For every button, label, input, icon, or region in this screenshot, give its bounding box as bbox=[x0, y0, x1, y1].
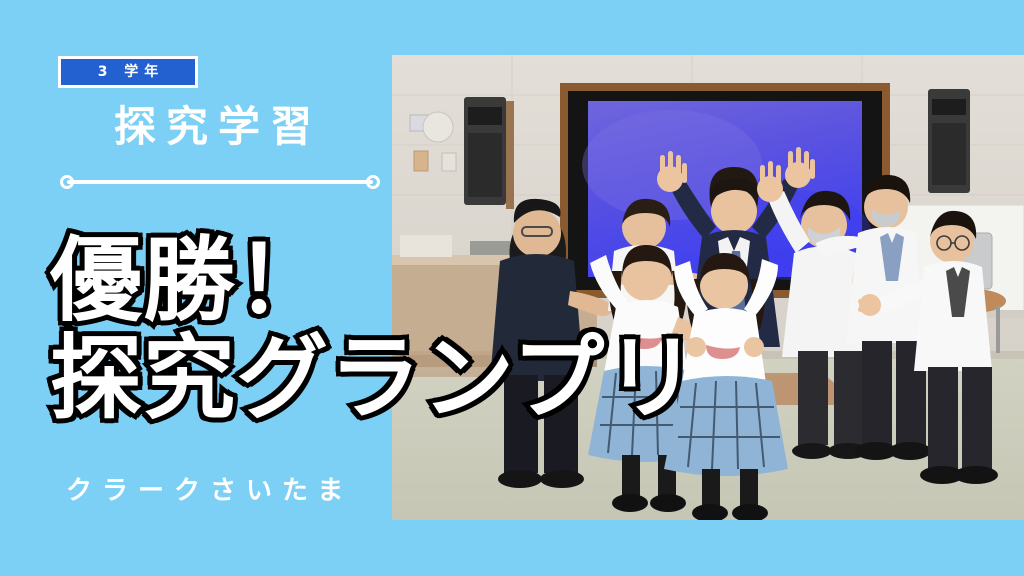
wall-speaker-left bbox=[464, 97, 514, 209]
subheading: 探究学習 bbox=[104, 104, 322, 150]
wall-speaker-right bbox=[928, 89, 970, 193]
divider-endpoint-right-icon bbox=[366, 175, 380, 189]
slide-canvas: 3 学年 探究学習 優勝！ 探究グランプリ クラークさいたま bbox=[0, 0, 1024, 576]
smoke-detector bbox=[423, 112, 453, 142]
main-title-line-1: 優勝！ bbox=[50, 232, 698, 330]
main-title-line-2: 探究グランプリ bbox=[50, 330, 698, 428]
main-title: 優勝！ 探究グランプリ bbox=[50, 232, 698, 429]
wall-plate-3 bbox=[442, 153, 456, 171]
wall-plate-2 bbox=[414, 151, 428, 171]
grade-badge-label: 3 学年 bbox=[92, 65, 165, 79]
divider bbox=[60, 175, 380, 189]
divider-bar bbox=[67, 180, 373, 184]
footer-caption: クラークさいたま bbox=[56, 470, 353, 507]
grade-badge: 3 学年 bbox=[58, 56, 198, 88]
